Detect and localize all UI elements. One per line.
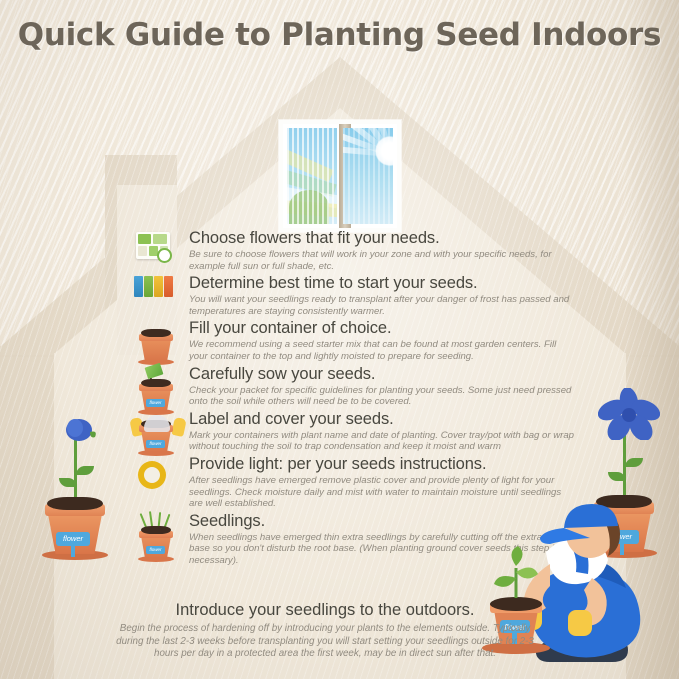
filled-pot-icon: [133, 319, 183, 365]
page-title: Quick Guide to Planting Seed Indoors: [0, 17, 679, 53]
window-pane-left: [287, 128, 337, 224]
sowing-seeds-icon: flower: [133, 365, 183, 411]
seedlings-pot-icon: flower: [133, 512, 183, 558]
step-item: flower Label and cover your seeds. Mark …: [133, 410, 577, 453]
step-body: We recommend using a seed starter mix th…: [189, 339, 577, 362]
outro-section: Introduce your seedlings to the outdoors…: [110, 600, 540, 661]
pot-label-tag: flower: [56, 532, 90, 546]
gloves-covering-pot-icon: flower: [133, 410, 183, 456]
left-flower-pot: flower: [48, 500, 108, 560]
sun-light-icon: [133, 455, 183, 501]
glove-icon: [568, 610, 592, 636]
terracotta-pot: [141, 325, 175, 365]
step-heading: Provide light: per your seeds instructio…: [189, 455, 577, 474]
flower-bloom-icon: [598, 388, 660, 440]
outro-heading: Introduce your seedlings to the outdoors…: [110, 600, 540, 620]
window-blinds: [287, 128, 337, 224]
step-body: Check your packet for specific guideline…: [189, 385, 577, 408]
step-heading: Choose flowers that fit your needs.: [189, 229, 577, 248]
seed-catalog-icon: [133, 229, 183, 275]
plastic-cover: [144, 415, 170, 432]
pot-label-tag: flower: [146, 546, 165, 554]
seed-packets-icon: [133, 274, 183, 320]
step-item: flower Carefully sow your seeds. Check y…: [133, 365, 577, 408]
step-heading: Label and cover your seeds.: [189, 410, 577, 429]
window-blinds: [343, 128, 393, 224]
window-pane-right: [343, 128, 393, 224]
step-body: Mark your containers with plant name and…: [189, 430, 577, 453]
gardener-cap: [564, 504, 618, 528]
step-item: Choose flowers that fit your needs. Be s…: [133, 229, 577, 272]
seed-packet: [145, 362, 164, 378]
step-heading: Determine best time to start your seeds.: [189, 274, 577, 293]
step-item: Determine best time to start your seeds.…: [133, 274, 577, 317]
terracotta-pot: flower: [141, 420, 175, 456]
sunny-window-illustration: [279, 120, 401, 232]
outro-body: Begin the process of hardening off by in…: [110, 623, 540, 661]
step-heading: Carefully sow your seeds.: [189, 365, 577, 384]
pot-label-tag: flower: [146, 440, 165, 448]
step-heading: Fill your container of choice.: [189, 319, 577, 338]
approval-badge-icon: [157, 248, 172, 263]
pot-label-tag: flower: [146, 399, 165, 407]
step-body: You will want your seedlings ready to tr…: [189, 294, 577, 317]
terracotta-pot: flower: [141, 532, 175, 562]
step-item: Fill your container of choice. We recomm…: [133, 319, 577, 362]
infographic-canvas: Quick Guide to Planting Seed Indoors: [0, 0, 679, 679]
step-body: Be sure to choose flowers that will work…: [189, 249, 577, 272]
flower-bud-icon: [62, 416, 96, 444]
